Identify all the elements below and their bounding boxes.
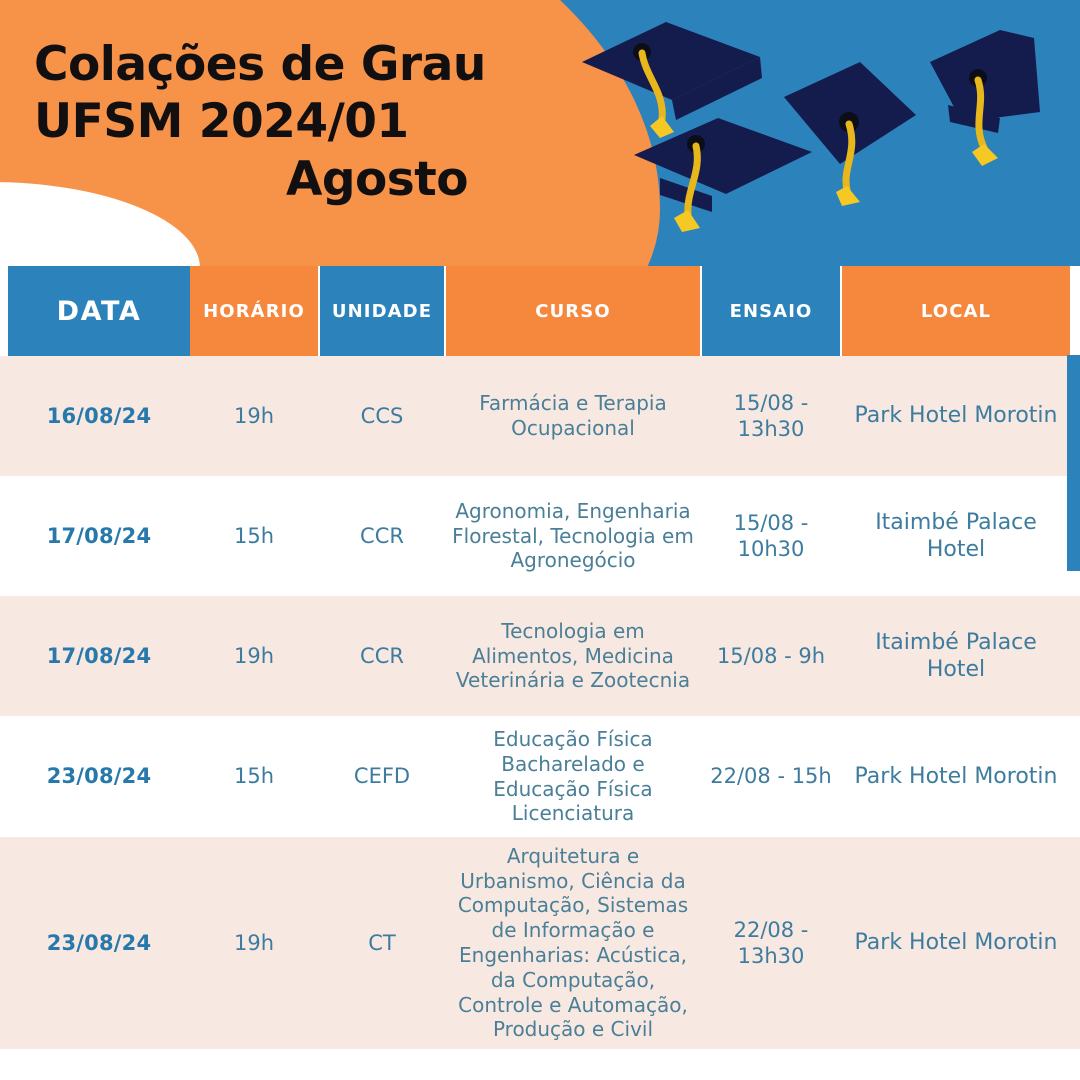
table-row: 23/08/24 15h CEFD Educação Física Bachar… [0,716,1080,837]
poster-title: Colações de Grau UFSM 2024/01 Agosto [34,36,504,208]
cell-local: Itaimbé Palace Hotel [842,476,1070,596]
cell-data: 16/08/24 [8,356,190,476]
column-header-local: LOCAL [842,266,1070,356]
cell-local: Itaimbé Palace Hotel [842,596,1070,716]
poster-root: Colações de Grau UFSM 2024/01 Agosto DAT… [0,0,1080,1080]
title-line-2: UFSM 2024/01 [34,93,504,150]
column-header-ensaio: ENSAIO [702,266,840,356]
cell-local: Park Hotel Morotin [842,837,1070,1049]
cell-curso: Educação Física Bacharelado e Educação F… [446,716,700,837]
cell-horario: 15h [190,716,318,837]
cell-curso: Farmácia e Terapia Ocupacional [446,356,700,476]
cell-horario: 19h [190,356,318,476]
title-line-3: Agosto [34,151,504,208]
cell-unidade: CCS [320,356,444,476]
cell-data: 23/08/24 [8,716,190,837]
graduation-cap-icon-4 [930,30,1040,166]
cell-ensaio: 22/08 - 15h [702,716,840,837]
cell-horario: 19h [190,837,318,1049]
table-row: 17/08/24 15h CCR Agronomia, Engenharia F… [0,476,1080,596]
title-line-1: Colações de Grau [34,36,504,93]
column-header-horario: HORÁRIO [190,266,318,356]
cell-horario: 15h [190,476,318,596]
cell-ensaio: 15/08 - 10h30 [702,476,840,596]
cell-data: 23/08/24 [8,837,190,1049]
cell-data: 17/08/24 [8,596,190,716]
schedule-table: DATA HORÁRIO UNIDADE CURSO ENSAIO LOCAL … [0,266,1080,1049]
column-header-curso: CURSO [446,266,700,356]
table-row: 17/08/24 19h CCR Tecnologia em Alimentos… [0,596,1080,716]
cell-horario: 19h [190,596,318,716]
graduation-cap-icon-1 [582,22,762,138]
graduation-cap-icon-3 [784,62,916,206]
header-banner: Colações de Grau UFSM 2024/01 Agosto [0,0,1080,266]
table-header-row: DATA HORÁRIO UNIDADE CURSO ENSAIO LOCAL [0,266,1080,356]
cell-unidade: CCR [320,596,444,716]
cell-unidade: CEFD [320,716,444,837]
cell-local: Park Hotel Morotin [842,356,1070,476]
cell-local: Park Hotel Morotin [842,716,1070,837]
table-row: 23/08/24 19h CT Arquitetura e Urbanismo,… [0,837,1080,1049]
right-blue-accent-bar [1067,355,1080,571]
cell-unidade: CT [320,837,444,1049]
cell-ensaio: 15/08 - 13h30 [702,356,840,476]
cell-curso: Arquitetura e Urbanismo, Ciência da Comp… [446,837,700,1049]
column-header-data: DATA [8,266,190,356]
table-row: 16/08/24 19h CCS Farmácia e Terapia Ocup… [0,356,1080,476]
cell-curso: Agronomia, Engenharia Florestal, Tecnolo… [446,476,700,596]
cell-unidade: CCR [320,476,444,596]
cell-data: 17/08/24 [8,476,190,596]
cell-ensaio: 15/08 - 9h [702,596,840,716]
column-header-unidade: UNIDADE [320,266,444,356]
cell-curso: Tecnologia em Alimentos, Medicina Veteri… [446,596,700,716]
cell-ensaio: 22/08 - 13h30 [702,837,840,1049]
